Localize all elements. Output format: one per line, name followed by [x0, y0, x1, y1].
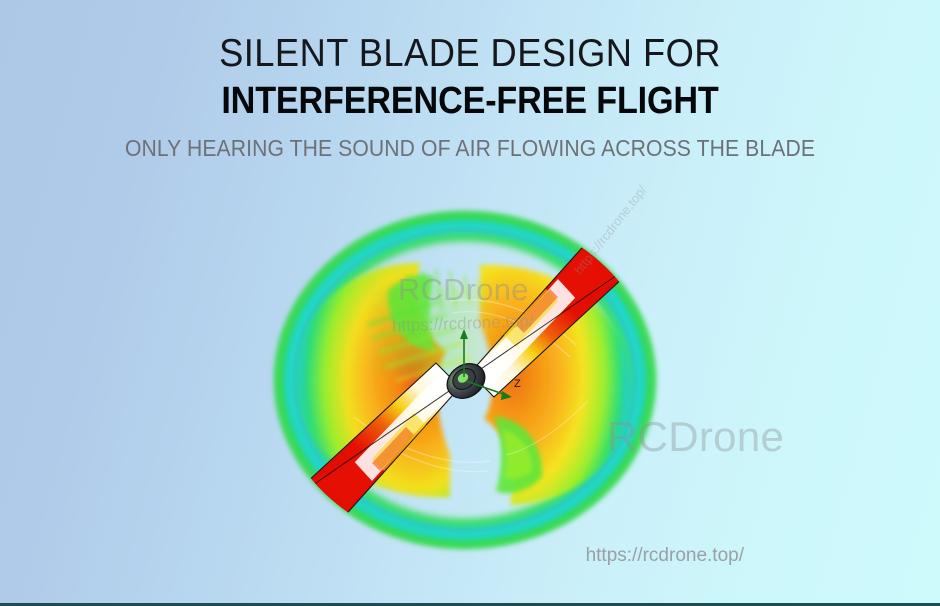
headline-subtitle: ONLY HEARING THE SOUND OF AIR FLOWING AC… [38, 122, 903, 161]
headline-line-2: INTERFERENCE-FREE FLIGHT [47, 75, 893, 122]
cfd-plot-svg: Z [258, 205, 688, 560]
headline-line-1: SILENT BLADE DESIGN FOR [33, 0, 907, 75]
footer-url: https://rcdrone.top/ [586, 545, 744, 567]
promo-banner: SILENT BLADE DESIGN FOR INTERFERENCE-FRE… [0, 0, 940, 606]
headline-block: SILENT BLADE DESIGN FOR INTERFERENCE-FRE… [0, 0, 940, 161]
cfd-propeller-figure: Z [258, 205, 688, 560]
axis-label-z: Z [514, 378, 521, 390]
